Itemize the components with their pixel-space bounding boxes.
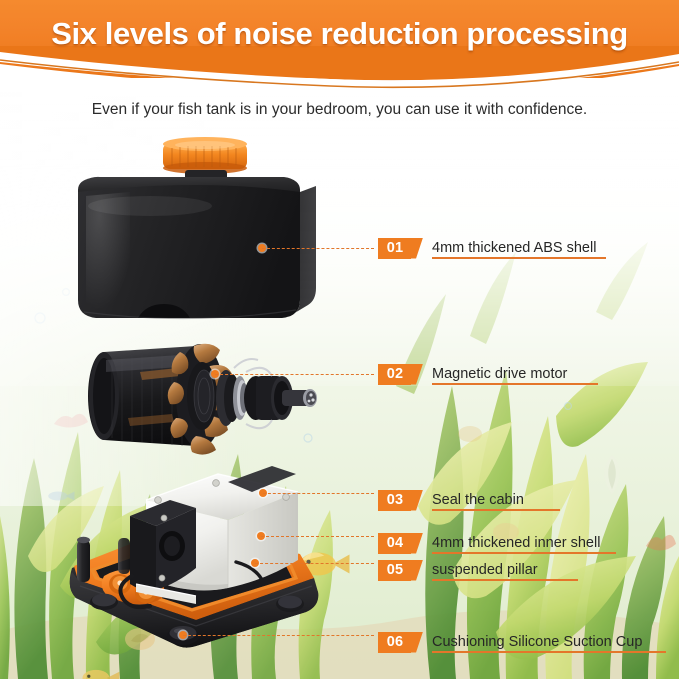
callout-06[interactable]: 06 Cushioning Silicone Suction Cup — [378, 631, 642, 653]
callout-badge-slash-03 — [411, 490, 423, 511]
callout-number-04: 04 — [378, 533, 411, 554]
callout-label-04: 4mm thickened inner shell — [432, 535, 600, 551]
callout-04[interactable]: 04 4mm thickened inner shell — [378, 532, 600, 554]
callout-label-06: Cushioning Silicone Suction Cup — [432, 634, 642, 650]
callout-underline-02 — [432, 383, 598, 385]
callout-underline-06 — [432, 651, 666, 653]
callout-badge-slash-05 — [411, 560, 423, 581]
callout-number-06: 06 — [378, 632, 411, 653]
callout-underline-01 — [432, 257, 606, 259]
page-subtitle: Even if your fish tank is in your bedroo… — [0, 101, 679, 119]
callout-badge-slash-04 — [411, 533, 423, 554]
callout-badge-slash-01 — [411, 238, 423, 259]
callout-underline-04 — [432, 552, 616, 554]
callout-number-03: 03 — [378, 490, 411, 511]
callout-05[interactable]: 05 suspended pillar — [378, 559, 538, 581]
callout-02[interactable]: 02 Magnetic drive motor — [378, 363, 567, 385]
callout-label-03: Seal the cabin — [432, 492, 524, 508]
callout-label-02: Magnetic drive motor — [432, 366, 567, 382]
callout-badge-slash-06 — [411, 632, 423, 653]
callout-03[interactable]: 03 Seal the cabin — [378, 489, 524, 511]
callout-number-01: 01 — [378, 238, 411, 259]
callout-label-01: 4mm thickened ABS shell — [432, 240, 596, 256]
page-title: Six levels of noise reduction processing — [0, 16, 679, 52]
infographic-page: Six levels of noise reduction processing… — [0, 0, 679, 679]
callout-01[interactable]: 01 4mm thickened ABS shell — [378, 237, 596, 259]
callout-number-05: 05 — [378, 560, 411, 581]
callout-underline-03 — [432, 509, 560, 511]
callout-badge-slash-02 — [411, 364, 423, 385]
callout-label-05: suspended pillar — [432, 562, 538, 578]
callout-number-02: 02 — [378, 364, 411, 385]
callout-underline-05 — [432, 579, 578, 581]
